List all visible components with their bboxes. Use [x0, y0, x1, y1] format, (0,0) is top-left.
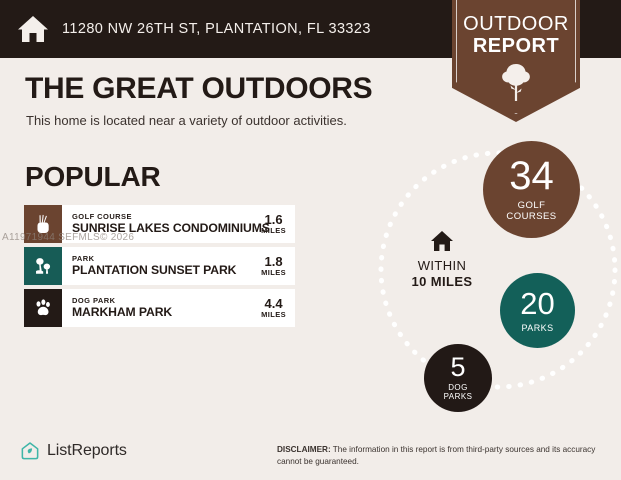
stat-circle-dog-parks: 5 DOG PARKS: [424, 344, 492, 412]
mls-watermark: A11971944 SEFMLS© 2026: [2, 232, 134, 243]
distance-value: 1.6: [261, 213, 286, 227]
property-address: 11280 NW 26TH ST, PLANTATION, FL 33323: [62, 21, 371, 37]
page-subtitle: This home is located near a variety of o…: [26, 113, 347, 128]
listreports-house-icon: [20, 441, 40, 461]
stat-label-line-2: PARKS: [444, 393, 473, 402]
stat-label: DOG PARKS: [444, 384, 473, 402]
list-item-name: MARKHAM PARK: [72, 305, 261, 319]
list-item-distance: 1.8 MILES: [261, 255, 295, 278]
listreports-wordmark: ListReports: [47, 442, 127, 460]
distance-value: 1.8: [261, 255, 286, 269]
disclaimer-label: DISCLAIMER:: [277, 445, 331, 454]
disclaimer: DISCLAIMER: The information in this repo…: [277, 444, 597, 468]
distance-value: 4.4: [261, 297, 286, 311]
tree-icon: [499, 62, 533, 102]
home-icon: [16, 12, 50, 46]
list-item-body: PARK PLANTATION SUNSET PARK: [62, 254, 261, 277]
distance-unit: MILES: [261, 226, 286, 235]
list-item-distance: 1.6 MILES: [261, 213, 295, 236]
outdoor-report-badge: OUTDOOR REPORT: [452, 0, 580, 122]
within-line-1: WITHIN: [388, 258, 496, 274]
list-item-name: PLANTATION SUNSET PARK: [72, 263, 261, 277]
popular-list: GOLF COURSE SUNRISE LAKES CONDOMINIUMS 1…: [24, 205, 295, 331]
stat-value: 20: [520, 288, 554, 319]
within-radius-label: WITHIN 10 MILES: [388, 230, 496, 289]
popular-heading: POPULAR: [25, 161, 161, 193]
badge-line-2: REPORT: [452, 36, 580, 58]
stat-label: PARKS: [521, 323, 553, 333]
badge-line-1: OUTDOOR: [452, 14, 580, 36]
list-item-distance: 4.4 MILES: [261, 297, 295, 320]
stat-label: GOLF COURSES: [506, 201, 556, 222]
distance-unit: MILES: [261, 268, 286, 277]
list-item-category: GOLF COURSE: [72, 212, 261, 221]
paw-print-icon: [24, 289, 62, 327]
list-item-body: DOG PARK MARKHAM PARK: [62, 296, 261, 319]
list-item[interactable]: DOG PARK MARKHAM PARK 4.4 MILES: [24, 289, 295, 327]
stat-label-line-2: COURSES: [506, 212, 556, 223]
stat-label-line-1: PARKS: [521, 323, 553, 333]
home-icon: [430, 230, 454, 252]
stat-circle-parks: 20 PARKS: [500, 273, 575, 348]
stat-value: 5: [450, 354, 465, 381]
stat-value: 34: [509, 156, 554, 196]
park-trees-icon: [24, 247, 62, 285]
distance-unit: MILES: [261, 310, 286, 319]
listreports-logo[interactable]: ListReports: [20, 441, 127, 461]
list-item[interactable]: PARK PLANTATION SUNSET PARK 1.8 MILES: [24, 247, 295, 285]
stats-panel: WITHIN 10 MILES 34 GOLF COURSES 20 PARKS…: [370, 130, 621, 430]
list-item-category: DOG PARK: [72, 296, 261, 305]
badge-text: OUTDOOR REPORT: [452, 14, 580, 57]
list-item-category: PARK: [72, 254, 261, 263]
page-title: THE GREAT OUTDOORS: [25, 72, 372, 106]
outdoor-report-page: 11280 NW 26TH ST, PLANTATION, FL 33323 O…: [0, 0, 621, 480]
within-line-2: 10 MILES: [388, 274, 496, 290]
stat-circle-golf-courses: 34 GOLF COURSES: [483, 141, 580, 238]
